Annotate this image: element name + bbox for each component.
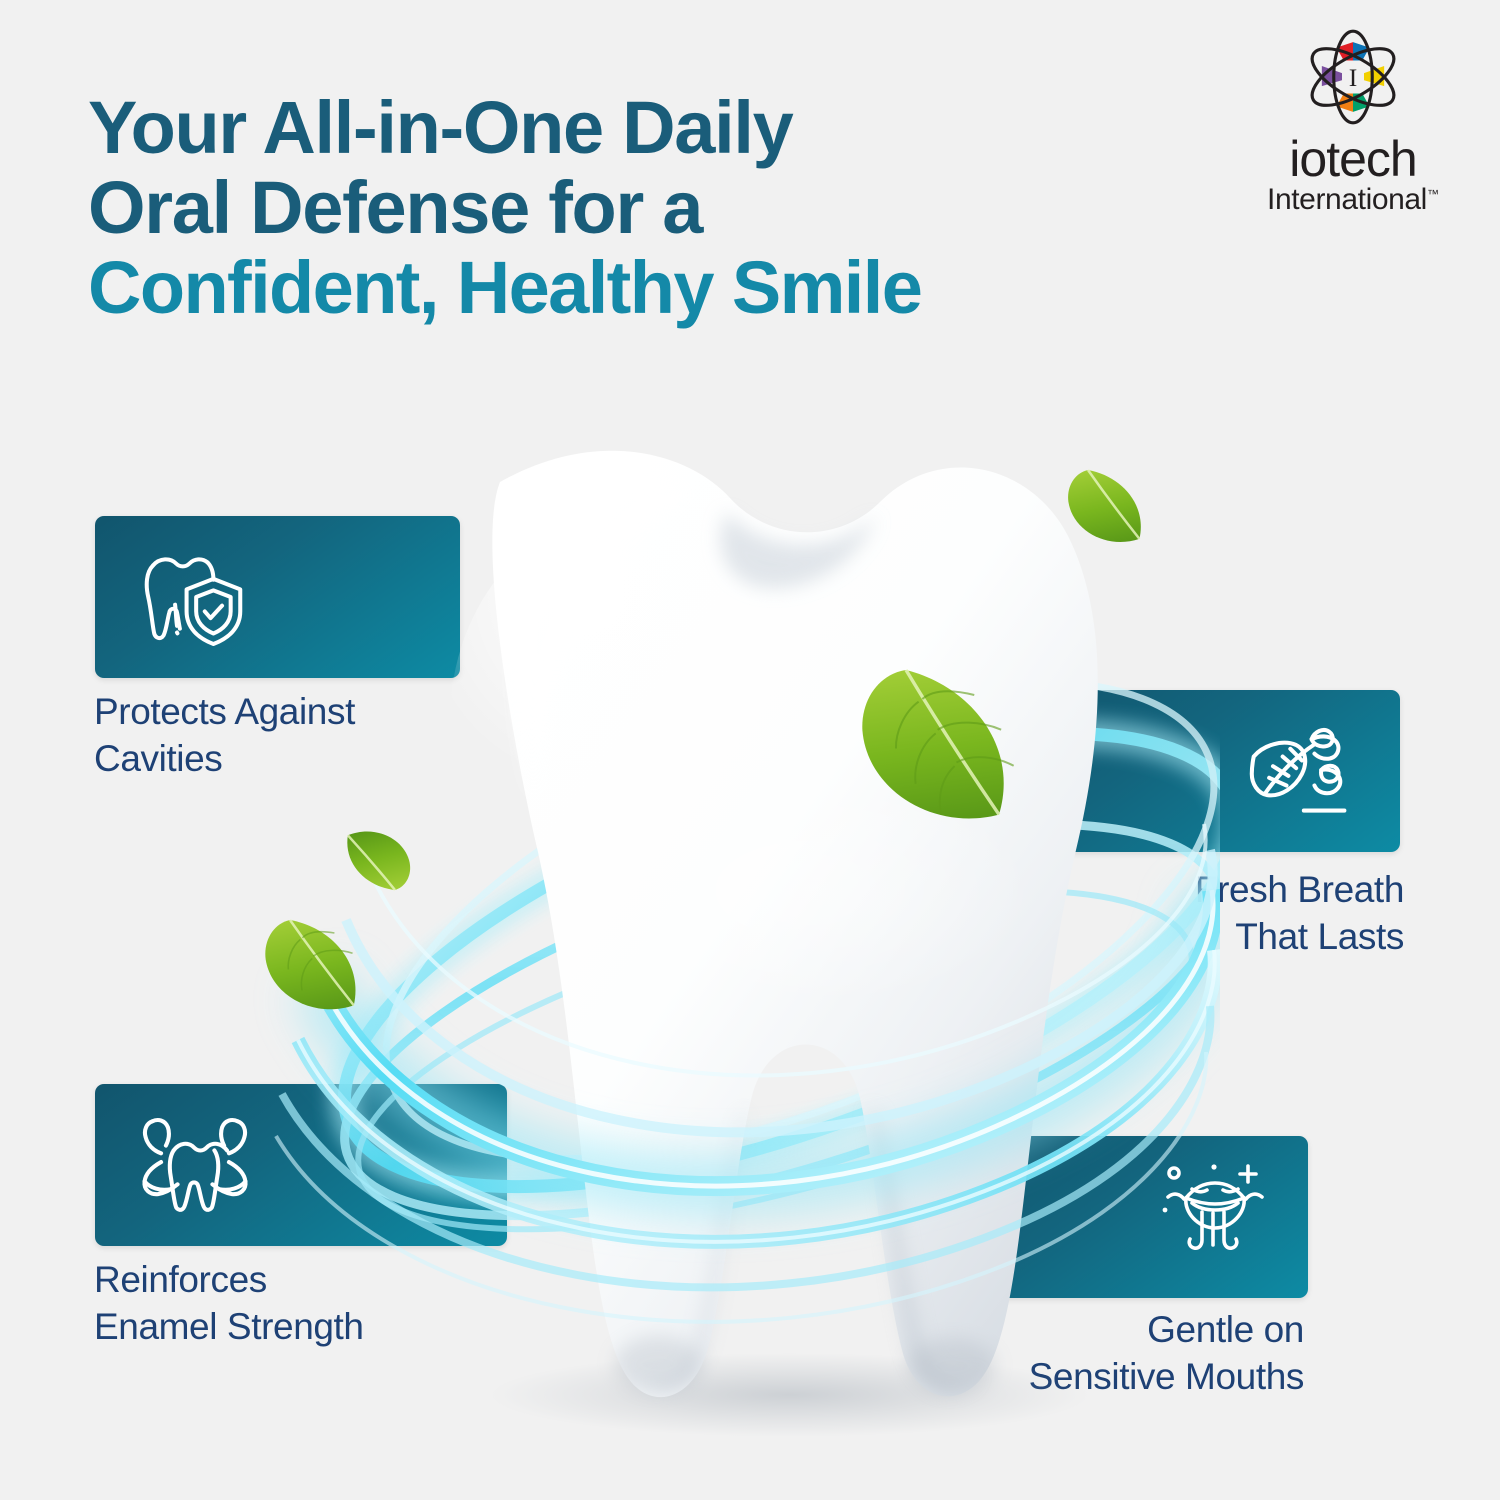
promo-banner: Your All-in-One Daily Oral Defense for a… bbox=[0, 0, 1500, 1500]
mint-leaf bbox=[335, 823, 419, 895]
trademark-symbol: ™ bbox=[1427, 187, 1439, 201]
mint-leaf-breath-icon bbox=[1240, 718, 1360, 826]
headline-line-2: Oral Defense for a bbox=[88, 168, 1208, 248]
brand-subtitle-text: International bbox=[1267, 183, 1427, 216]
atom-icon: I bbox=[1298, 22, 1408, 132]
mint-leaf bbox=[1056, 464, 1158, 553]
headline-line-3: Confident, Healthy Smile bbox=[88, 248, 1208, 328]
svg-text:I: I bbox=[1349, 63, 1358, 92]
brand-logo: I iotech International™ bbox=[1243, 22, 1463, 215]
tooth-with-glow-rings-illustration bbox=[170, 420, 1220, 1450]
headline-line-1: Your All-in-One Daily bbox=[88, 88, 1208, 168]
brand-subtitle: International™ bbox=[1267, 184, 1439, 216]
page-title: Your All-in-One Daily Oral Defense for a… bbox=[88, 88, 1208, 328]
brand-name: iotech bbox=[1243, 136, 1463, 184]
